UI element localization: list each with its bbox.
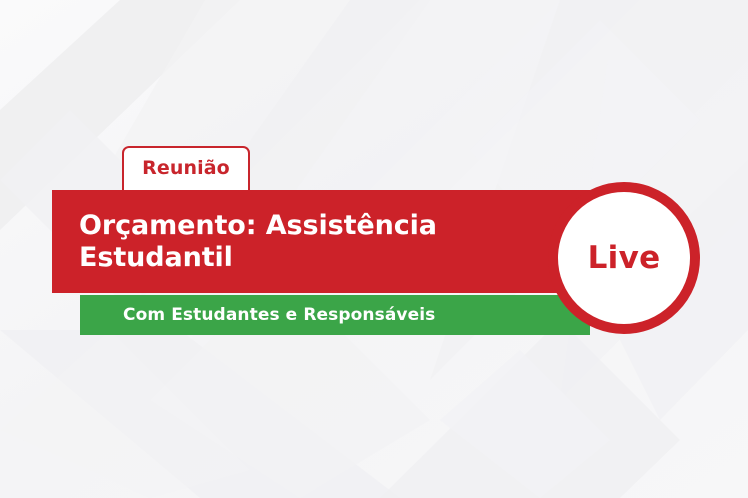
page-title: Orçamento: Assistência Estudantil xyxy=(52,210,589,273)
live-badge-label: Live xyxy=(588,243,661,274)
subtitle-text: Com Estudantes e Responsáveis xyxy=(80,307,435,324)
live-status-badge: Live xyxy=(548,182,700,334)
subtitle-bar: Com Estudantes e Responsáveis xyxy=(80,295,590,335)
banner-canvas: Reunião Com Estudantes e Responsáveis Or… xyxy=(0,0,748,498)
category-tab-label: Reunião xyxy=(142,159,230,182)
category-tab-reuniao: Reunião xyxy=(122,146,250,192)
title-bar: Orçamento: Assistência Estudantil xyxy=(52,190,590,293)
